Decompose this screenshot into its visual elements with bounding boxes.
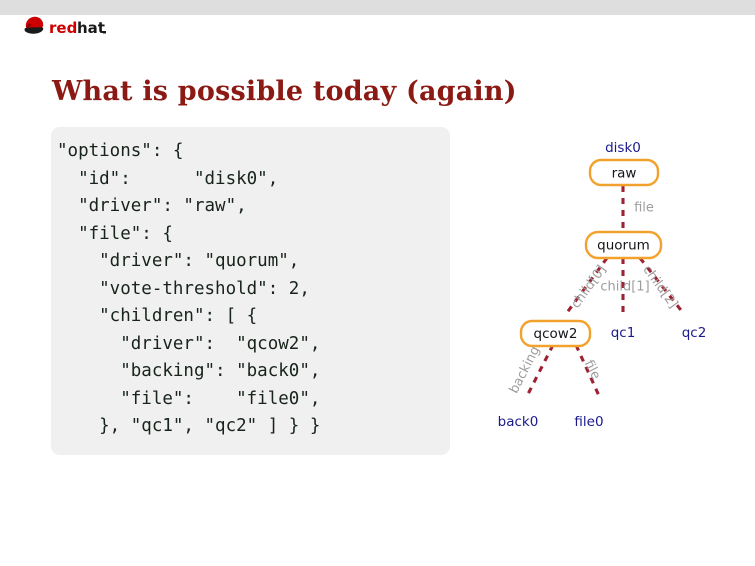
block-graph-diagram: disk0 raw file quorum child[0] child[1] … xyxy=(470,130,730,445)
diagram-node-back0-label: back0 xyxy=(498,414,539,430)
edge-label-child1: child[1] xyxy=(600,280,649,295)
svg-text:hat: hat xyxy=(77,19,105,37)
diagram-node-qc2-label: qc2 xyxy=(682,325,707,341)
svg-text:red: red xyxy=(49,19,77,37)
top-gray-band xyxy=(0,0,755,15)
diagram-node-raw-label: raw xyxy=(612,166,637,182)
diagram-root-caption: disk0 xyxy=(605,140,641,156)
diagram-node-qc1-label: qc1 xyxy=(611,325,636,341)
edge-label-backing: backing xyxy=(507,344,544,396)
redhat-wordmark: red hat xyxy=(49,19,106,37)
diagram-node-qcow2-label: qcow2 xyxy=(534,326,578,342)
edge-label-file-qcow2: file xyxy=(581,358,603,382)
diagram-node-qcow2[interactable]: qcow2 xyxy=(521,321,590,346)
page-title: What is possible today (again) xyxy=(52,76,517,107)
redhat-logo: red hat xyxy=(20,14,140,40)
edge-label-file-root: file xyxy=(634,201,654,216)
code-block: "options": { "id": "disk0", "driver": "r… xyxy=(57,138,320,441)
diagram-node-quorum-label: quorum xyxy=(597,238,650,254)
diagram-node-file0-label: file0 xyxy=(574,414,603,430)
shadowman-icon xyxy=(25,17,44,34)
diagram-node-raw[interactable]: raw xyxy=(590,160,658,185)
diagram-node-quorum[interactable]: quorum xyxy=(586,232,661,258)
